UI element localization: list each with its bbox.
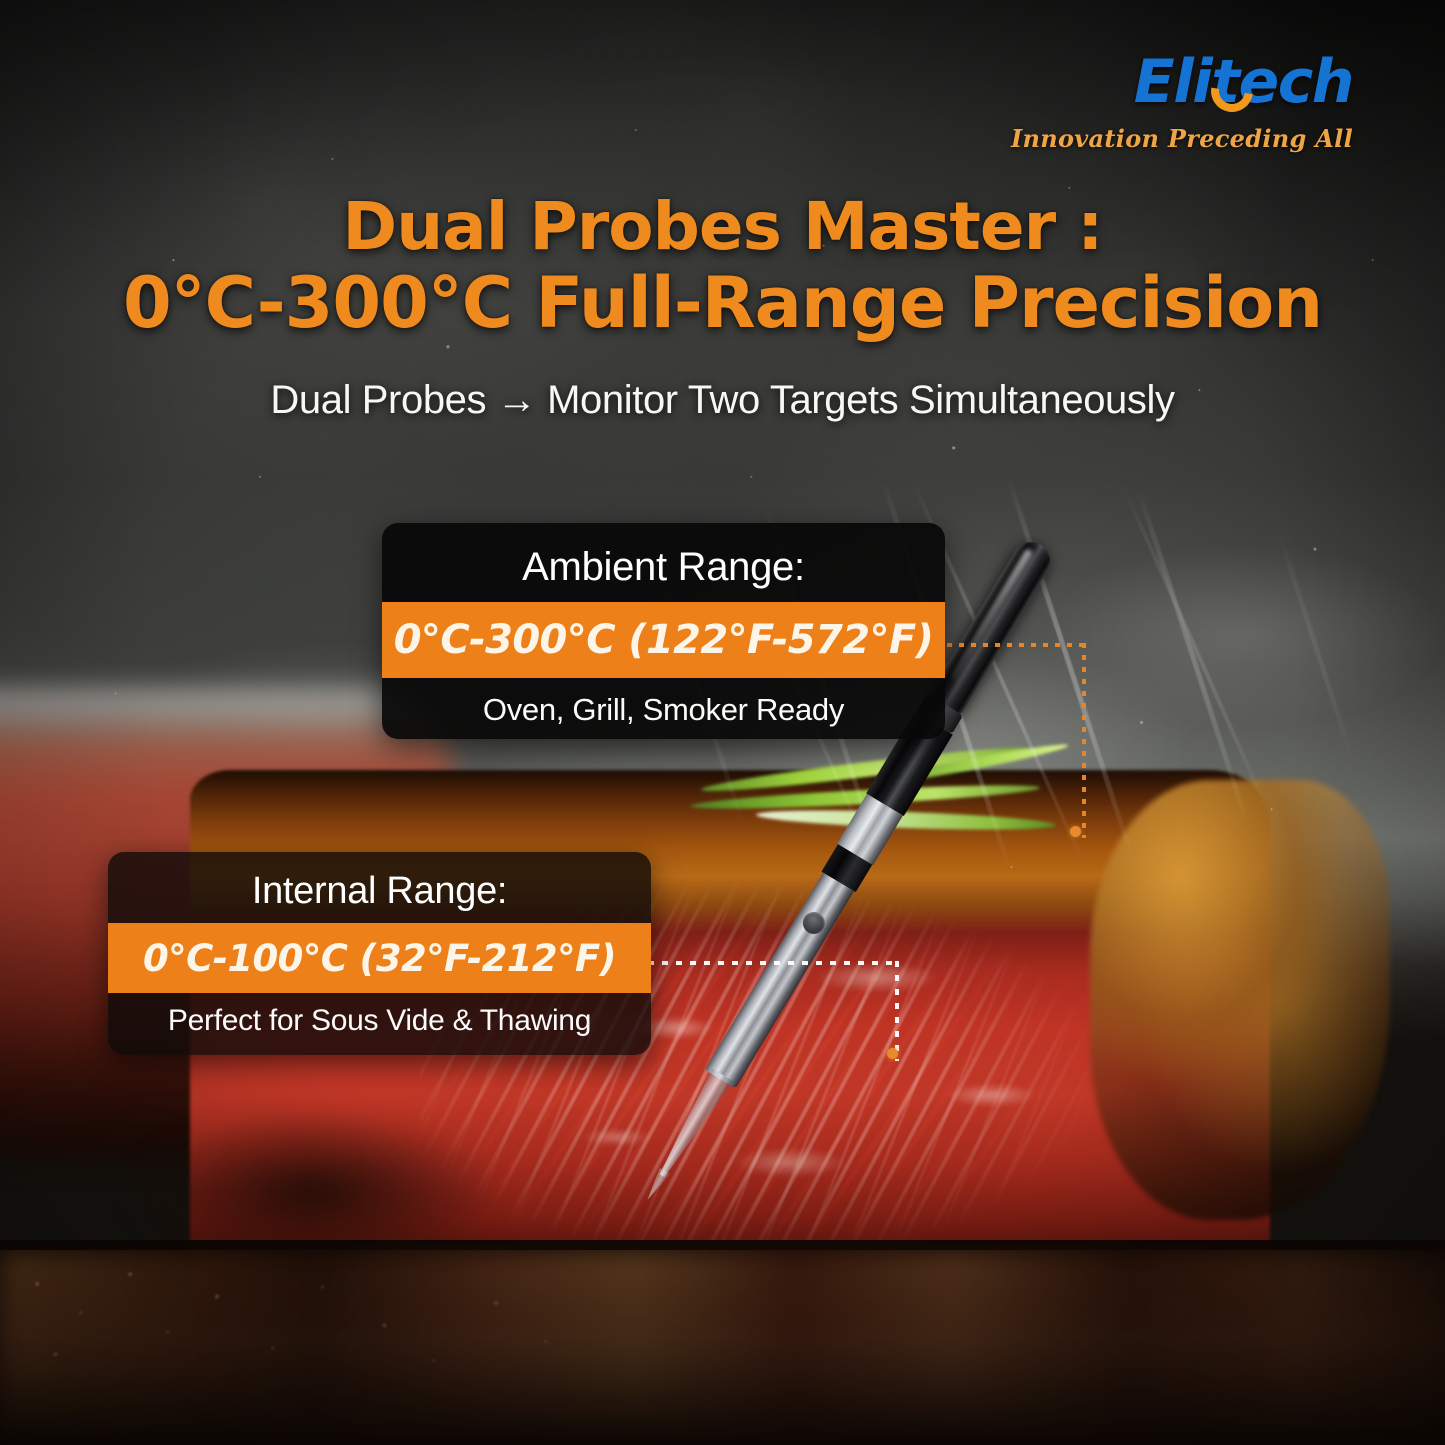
ambient-range-value: 0°C-300°C (122°F-572°F) xyxy=(382,602,945,678)
page-title-line-2: 0°C-300°C Full-Range Precision xyxy=(0,266,1445,340)
ambient-range-title: Ambient Range: xyxy=(382,523,945,590)
page-title: Dual Probes Master : 0°C-300°C Full-Rang… xyxy=(0,192,1445,340)
internal-leader-line-horizontal xyxy=(648,961,900,965)
brand-logo-wordmark: Elitech xyxy=(1011,52,1353,112)
ambient-leader-line-horizontal xyxy=(947,643,1087,647)
ambient-leader-endpoint-dot xyxy=(1070,826,1081,837)
internal-range-card: Internal Range: 0°C-100°C (32°F-212°F) P… xyxy=(108,852,651,1055)
ambient-leader-line-vertical xyxy=(1082,643,1086,838)
page-title-line-1: Dual Probes Master : xyxy=(342,188,1102,265)
internal-range-note: Perfect for Sous Vide & Thawing xyxy=(108,993,651,1038)
product-feature-banner: Elitech Innovation Preceding All Dual Pr… xyxy=(0,0,1445,1445)
internal-leader-endpoint-dot xyxy=(887,1048,898,1059)
page-subtitle: Dual Probes → Monitor Two Targets Simult… xyxy=(0,378,1445,423)
ambient-range-card: Ambient Range: 0°C-300°C (122°F-572°F) O… xyxy=(382,523,945,739)
internal-range-title: Internal Range: xyxy=(108,852,651,913)
brand-tagline: Innovation Preceding All xyxy=(1011,124,1353,153)
brand-logo: Elitech Innovation Preceding All xyxy=(1011,52,1353,153)
internal-leader-line-vertical xyxy=(895,961,899,1061)
internal-range-value: 0°C-100°C (32°F-212°F) xyxy=(108,923,651,993)
ambient-range-note: Oven, Grill, Smoker Ready xyxy=(382,678,945,728)
